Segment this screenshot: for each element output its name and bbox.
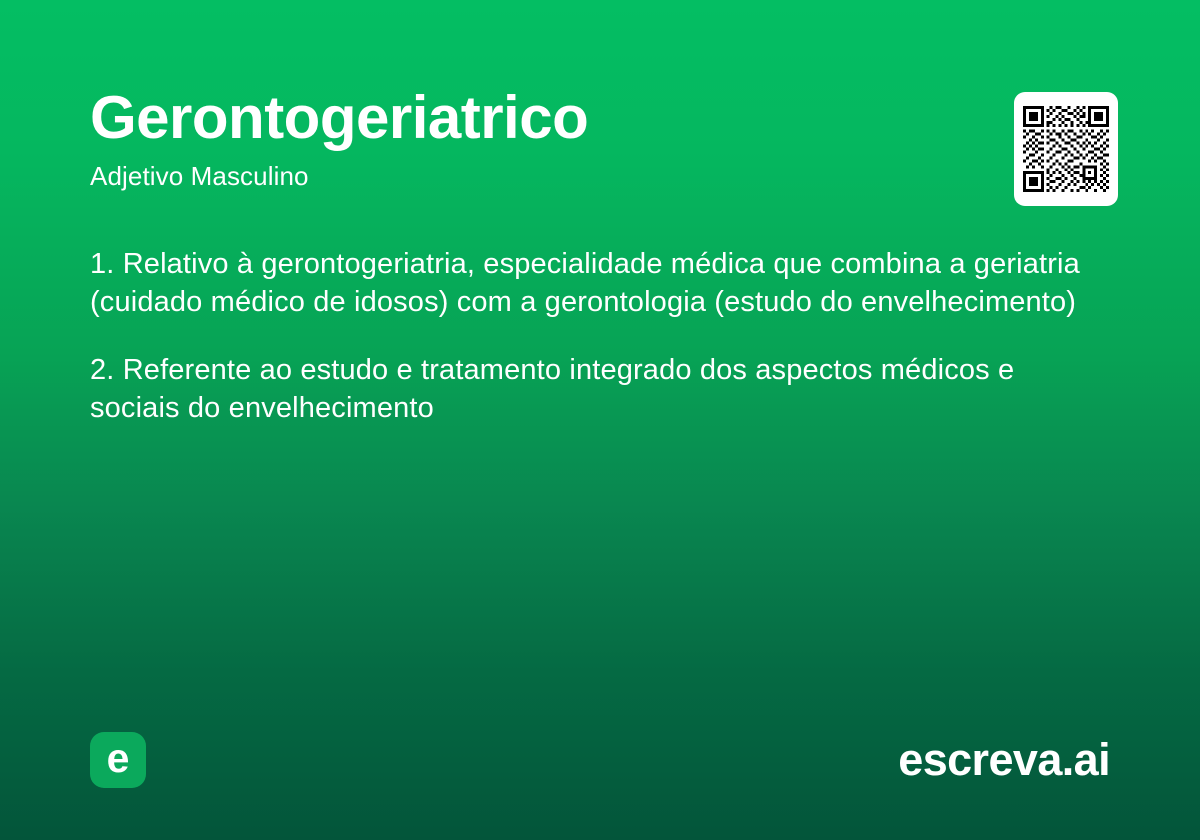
qr-code[interactable] bbox=[1014, 92, 1118, 206]
brand-name: escreva.ai bbox=[898, 734, 1110, 786]
definition-item: 2. Referente ao estudo e tratamento inte… bbox=[90, 352, 1112, 428]
card-footer: e escreva.ai bbox=[0, 732, 1200, 790]
definition-item: 1. Relativo à gerontogeriatria, especial… bbox=[90, 246, 1112, 322]
qr-code-icon bbox=[1023, 102, 1109, 196]
brand-logo[interactable]: e bbox=[90, 732, 146, 788]
word-class-subtitle: Adjetivo Masculino bbox=[90, 162, 970, 191]
brand-logo-letter: e bbox=[107, 738, 130, 779]
page-title: Gerontogeriatrico bbox=[90, 88, 970, 148]
definitions-list: 1. Relativo à gerontogeriatria, especial… bbox=[90, 246, 1112, 428]
dictionary-card: Gerontogeriatrico Adjetivo Masculino bbox=[0, 0, 1200, 840]
card-header: Gerontogeriatrico Adjetivo Masculino bbox=[90, 88, 970, 191]
